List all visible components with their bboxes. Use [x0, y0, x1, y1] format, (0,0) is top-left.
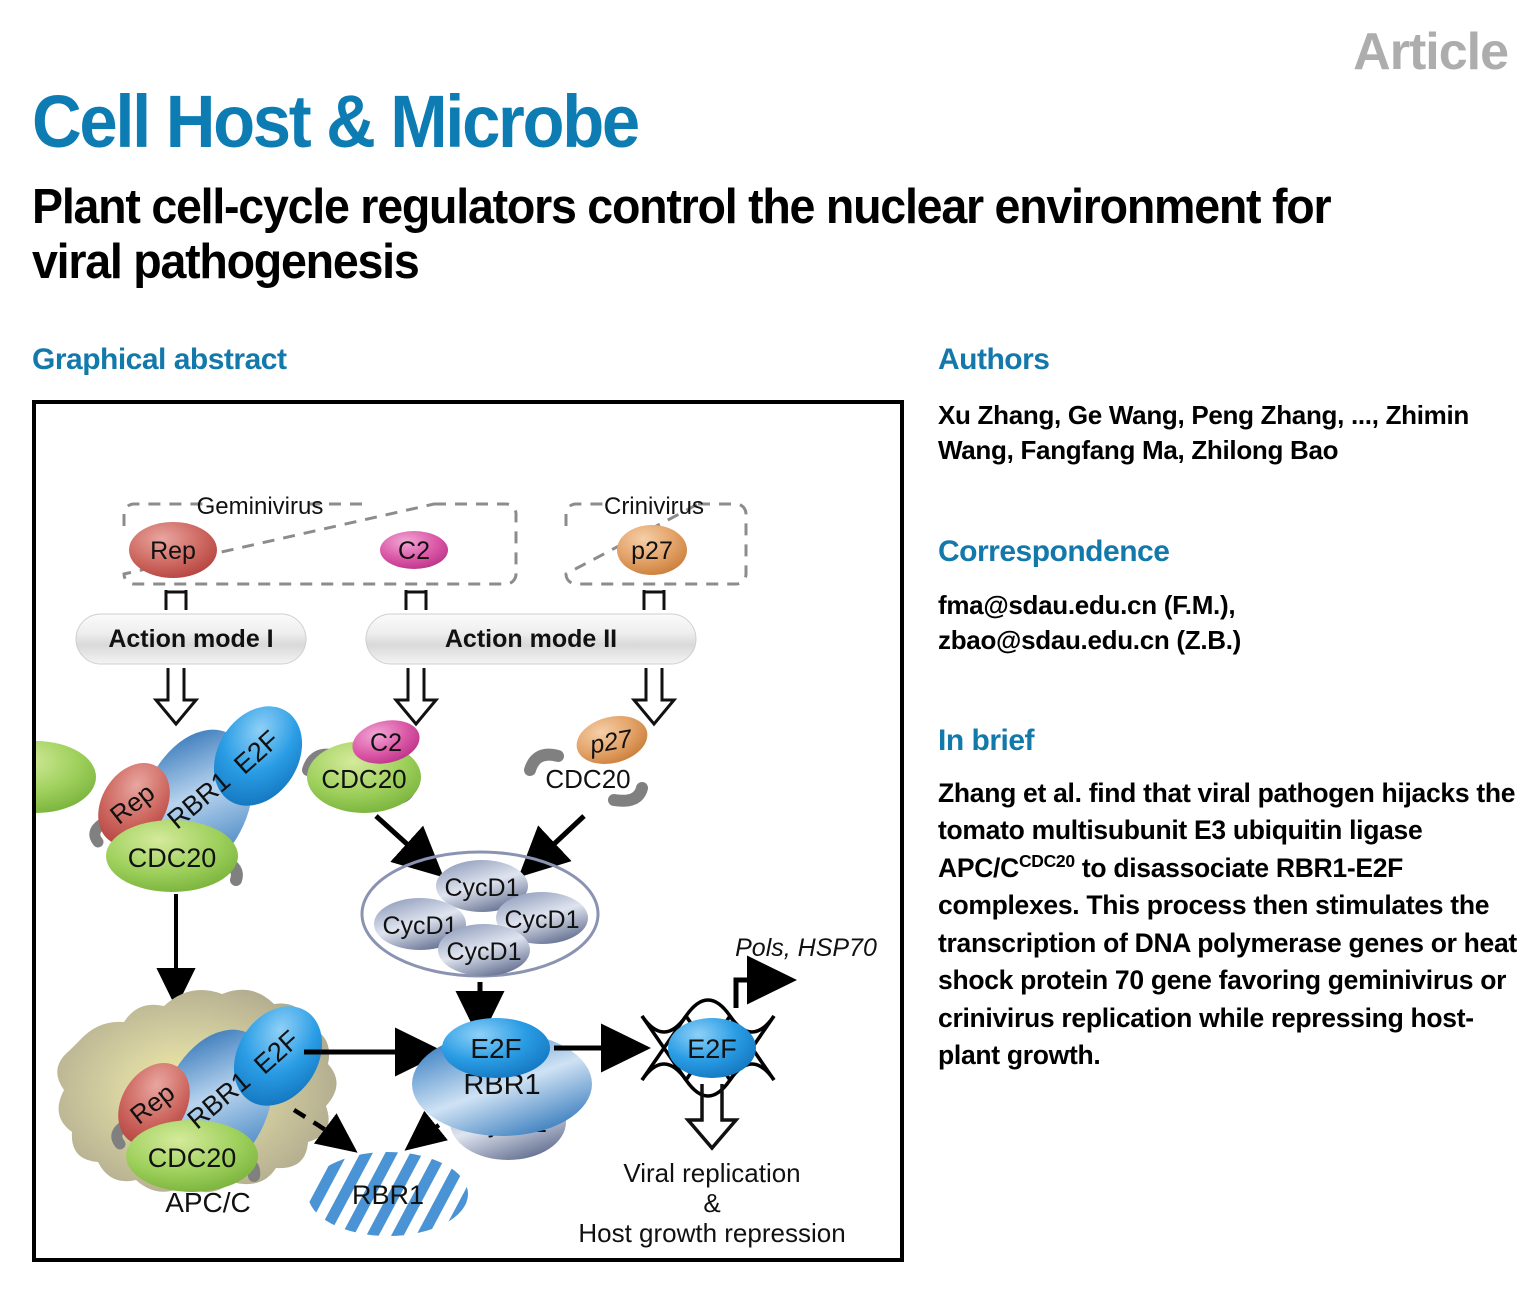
gene-targets-label: Pols, HSP70 [735, 934, 877, 962]
hollow-arrow-outcome [688, 1084, 736, 1148]
cycd1-cluster: CycD1 CycD1 CycD1 CycD1 [362, 852, 598, 976]
protein-cycd1-4-label: CycD1 [446, 938, 521, 966]
authors-list: Xu Zhang, Ge Wang, Peng Zhang, ..., Zhim… [938, 398, 1498, 467]
degraded-rbr1: RBR1 [308, 1152, 468, 1236]
protein-p27-top-label: p27 [631, 537, 673, 565]
action-mode-1: Action mode I [76, 614, 306, 664]
article-type-tag: Article [1353, 26, 1508, 78]
article-page: Article Cell Host & Microbe Plant cell-c… [0, 0, 1538, 1298]
apcc-complex: CDC20 Rep RBR1 E2F APC/C [57, 990, 340, 1218]
protein-cdc20-c2-label: CDC20 [321, 764, 406, 794]
in-brief-heading: In brief [938, 726, 1034, 756]
virus-box-crinivirus: Crinivirus p27 [566, 493, 746, 584]
action-mode-1-label: Action mode I [108, 625, 273, 653]
protein-cdc20-modeI-label: CDC20 [128, 843, 217, 873]
protein-cdc20-p27 [36, 741, 96, 813]
outcome-line-1: Viral replication [623, 1158, 800, 1188]
virus-label-crinivirus: Crinivirus [604, 493, 704, 520]
in-brief-part2: to disassociate RBR1-E2F complexes. This… [938, 853, 1517, 1070]
journal-title: Cell Host & Microbe [32, 85, 638, 159]
protein-cdc20-apcc-label: CDC20 [148, 1143, 237, 1173]
in-brief-text: Zhang et al. find that viral pathogen hi… [938, 775, 1518, 1075]
protein-cycd1-3-label: CycD1 [504, 906, 579, 934]
transcription-start-arrow [736, 980, 792, 1008]
complex-e2f-rbr1-cycd1: CycD1 RBR1 E2F [412, 1018, 592, 1160]
protein-cdc20-p27-label: CDC20 [545, 764, 630, 794]
hollow-arrows-row [156, 668, 674, 724]
dna-e2f-binding: E2F Pols, HSP70 [642, 934, 877, 1096]
page-title: Plant cell-cycle regulators control the … [32, 180, 1343, 290]
action-mode-2: Action mode II [366, 614, 696, 664]
outcome-line-2: & [703, 1188, 720, 1218]
protein-e2f-dna-label: E2F [687, 1034, 737, 1064]
protein-e2f-free-label: E2F [470, 1033, 521, 1064]
protein-c2-mid-label: C2 [370, 729, 402, 757]
correspondence-email-2[interactable]: zbao@sdau.edu.cn (Z.B.) [938, 623, 1498, 658]
correspondence-block: fma@sdau.edu.cn (F.M.), zbao@sdau.edu.cn… [938, 588, 1498, 657]
correspondence-email-1[interactable]: fma@sdau.edu.cn (F.M.), [938, 588, 1498, 623]
complex-rep-rbr1-e2f-cdc20: CDC20 Rep RBR1 E2F [84, 690, 320, 897]
pathway-diagram: Geminivirus Rep C2 Crinivirus p27 [36, 404, 900, 1258]
virus-box-geminivirus: Geminivirus Rep C2 [124, 493, 516, 584]
protein-cycd1-1-label: CycD1 [444, 874, 519, 902]
outcome-line-3: Host growth repression [578, 1218, 845, 1248]
in-brief-superscript: CDC20 [1019, 851, 1075, 871]
authors-heading: Authors [938, 345, 1050, 375]
apcc-label: APC/C [165, 1187, 251, 1218]
graphical-abstract-figure: Geminivirus Rep C2 Crinivirus p27 [32, 400, 904, 1262]
correspondence-heading: Correspondence [938, 537, 1169, 567]
connector-bars [166, 590, 664, 610]
complex-c2-cdc20: CDC20 C2 [307, 714, 424, 813]
protein-rep-top-label: Rep [150, 537, 196, 565]
action-mode-2-label: Action mode II [445, 625, 617, 653]
protein-c2-top-label: C2 [398, 537, 430, 565]
degraded-rbr1-label: RBR1 [352, 1180, 424, 1210]
virus-label-geminivirus: Geminivirus [197, 493, 324, 520]
graphical-abstract-heading: Graphical abstract [32, 345, 286, 375]
